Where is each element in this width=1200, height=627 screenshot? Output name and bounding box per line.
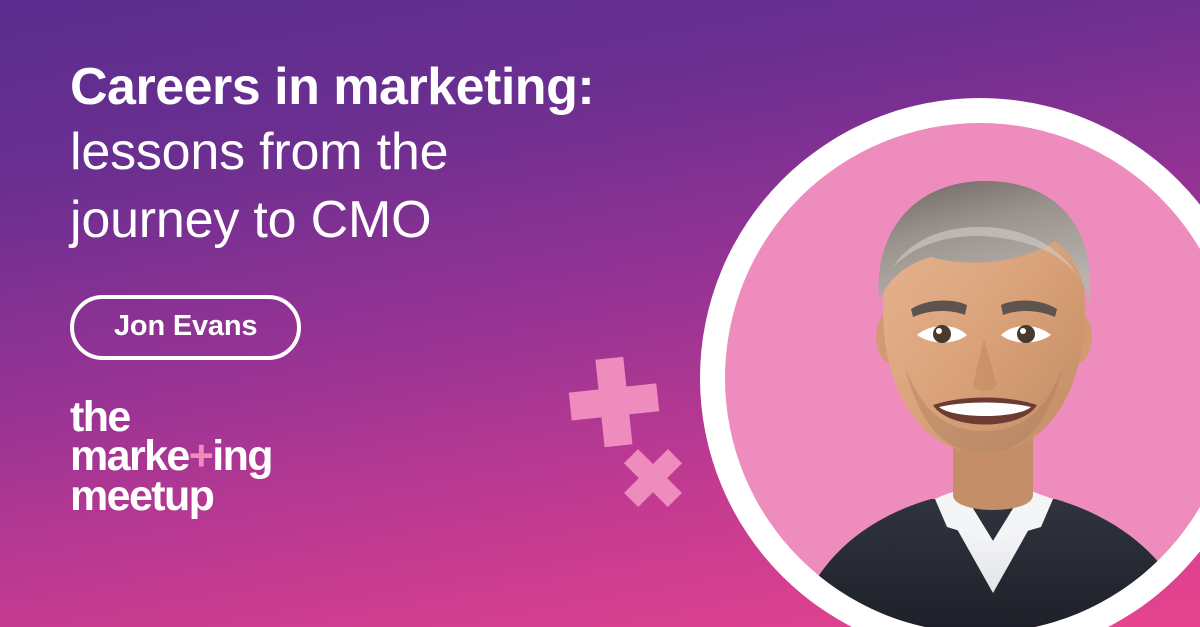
logo-ing: ing xyxy=(212,432,272,480)
logo-line-marketing: marke+ing xyxy=(70,437,750,477)
page-title: Careers in marketing: lessons from the j… xyxy=(70,56,750,255)
portrait-disc xyxy=(725,123,1200,627)
headline-line-1: Careers in marketing: xyxy=(70,56,750,119)
headline-line-2: lessons from the xyxy=(70,119,750,187)
speaker-portrait xyxy=(700,98,1200,627)
speaker-photo xyxy=(725,123,1200,627)
speaker-name-badge: Jon Evans xyxy=(70,295,301,360)
brand-logo: the marke+ing meetup xyxy=(70,398,750,517)
event-promo-card: Careers in marketing: lessons from the j… xyxy=(0,0,1200,627)
headline-line-3: journey to CMO xyxy=(70,187,750,255)
logo-line-meetup: meetup xyxy=(70,477,750,517)
text-column: Careers in marketing: lessons from the j… xyxy=(70,56,750,516)
